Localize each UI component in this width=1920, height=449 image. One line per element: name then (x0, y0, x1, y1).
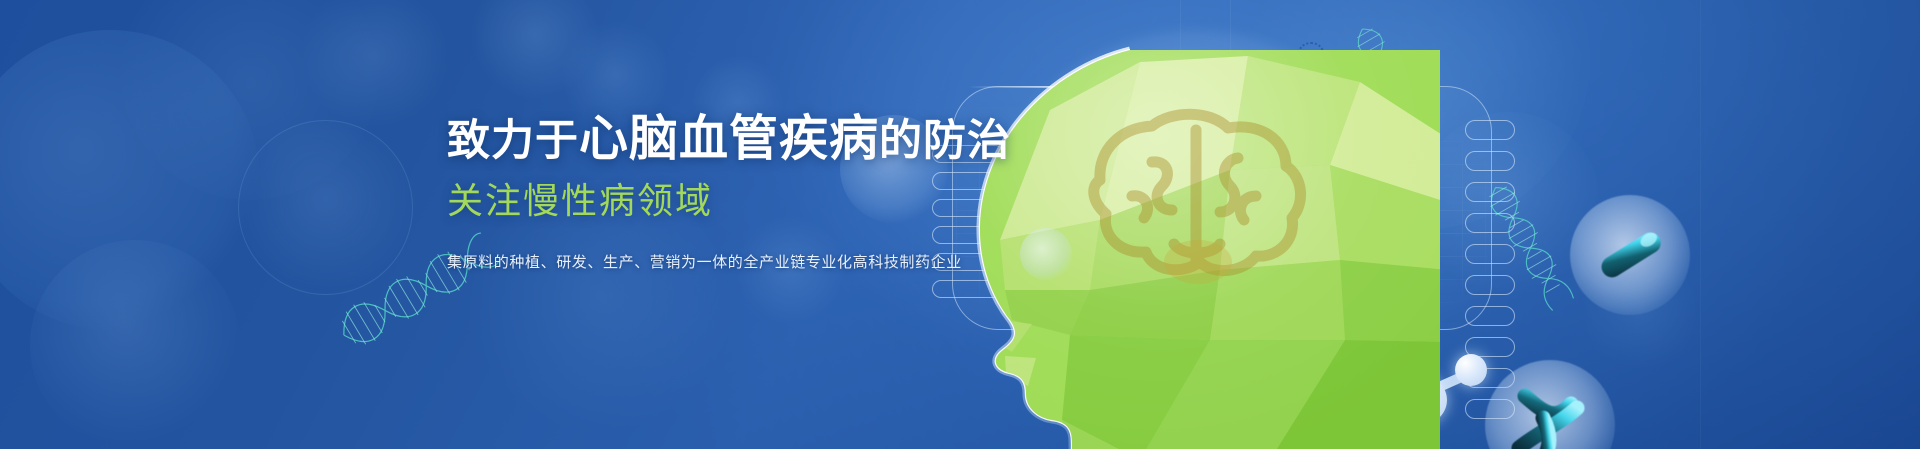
bokeh-circle (470, 0, 600, 100)
vertical-band (1700, 0, 1701, 449)
hero-banner: 致力于心脑血管疾病的防治 关注慢性病领域 集原料的种植、研发、生产、营销为一体的… (0, 0, 1920, 449)
cell-chromosome-icon (1485, 360, 1615, 449)
banner-text-block: 致力于心脑血管疾病的防治 关注慢性病领域 集原料的种植、研发、生产、营销为一体的… (447, 112, 967, 272)
page-headline: 致力于心脑血管疾病的防治 (447, 112, 967, 167)
headline-suffix: 的防治 (879, 117, 1011, 165)
bokeh-circle (238, 120, 413, 295)
bokeh-circle (0, 30, 260, 330)
bokeh-circle (120, 0, 380, 200)
bokeh-circle (30, 240, 240, 449)
bokeh-circle (300, 0, 450, 130)
page-subline: 关注慢性病领域 (447, 179, 967, 222)
cell-bacillus-icon (1570, 195, 1690, 315)
headline-keyword: 心脑血管疾病 (579, 112, 879, 166)
headline-prefix: 致力于 (447, 117, 579, 165)
brain-stem-icon (1164, 240, 1232, 284)
page-tagline: 集原料的种植、研发、生产、营销为一体的全产业链专业化高科技制药企业 (447, 251, 967, 272)
